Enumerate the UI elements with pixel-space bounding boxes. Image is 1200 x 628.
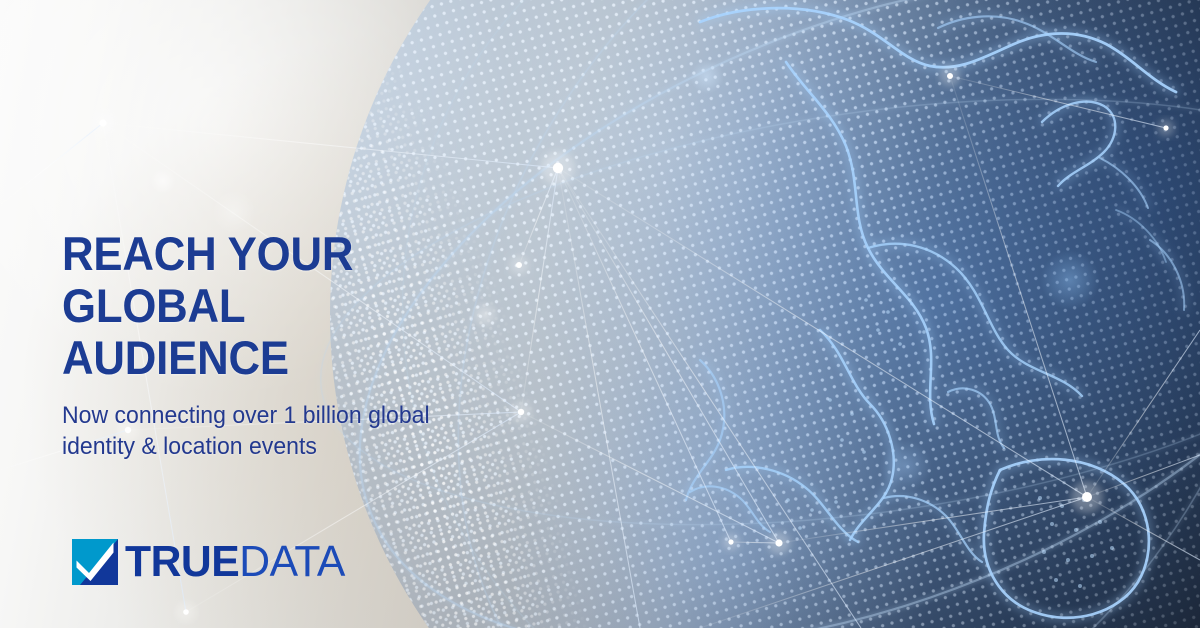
logo-word-data: DATA: [239, 537, 345, 586]
node-bottom-left: [183, 609, 189, 615]
marketing-banner: REACH YOUR GLOBAL AUDIENCE Now connectin…: [0, 0, 1200, 628]
node-upper-left: [99, 119, 106, 126]
bokeh-1: [150, 168, 176, 194]
page-subtitle: Now connecting over 1 billion global ide…: [62, 400, 561, 462]
truedata-logo[interactable]: TRUEDATA: [72, 539, 352, 585]
node-upper-left-halo: [92, 112, 114, 134]
checkmark-square-icon: [72, 539, 118, 585]
logo-wordmark: TRUEDATA: [125, 540, 345, 584]
copy-block: REACH YOUR GLOBAL AUDIENCE Now connectin…: [62, 228, 582, 462]
logo-word-true: TRUE: [125, 537, 239, 586]
node-bottom-left-halo: [177, 603, 195, 621]
page-title: REACH YOUR GLOBAL AUDIENCE: [62, 228, 546, 384]
network-edge: [0, 123, 103, 205]
